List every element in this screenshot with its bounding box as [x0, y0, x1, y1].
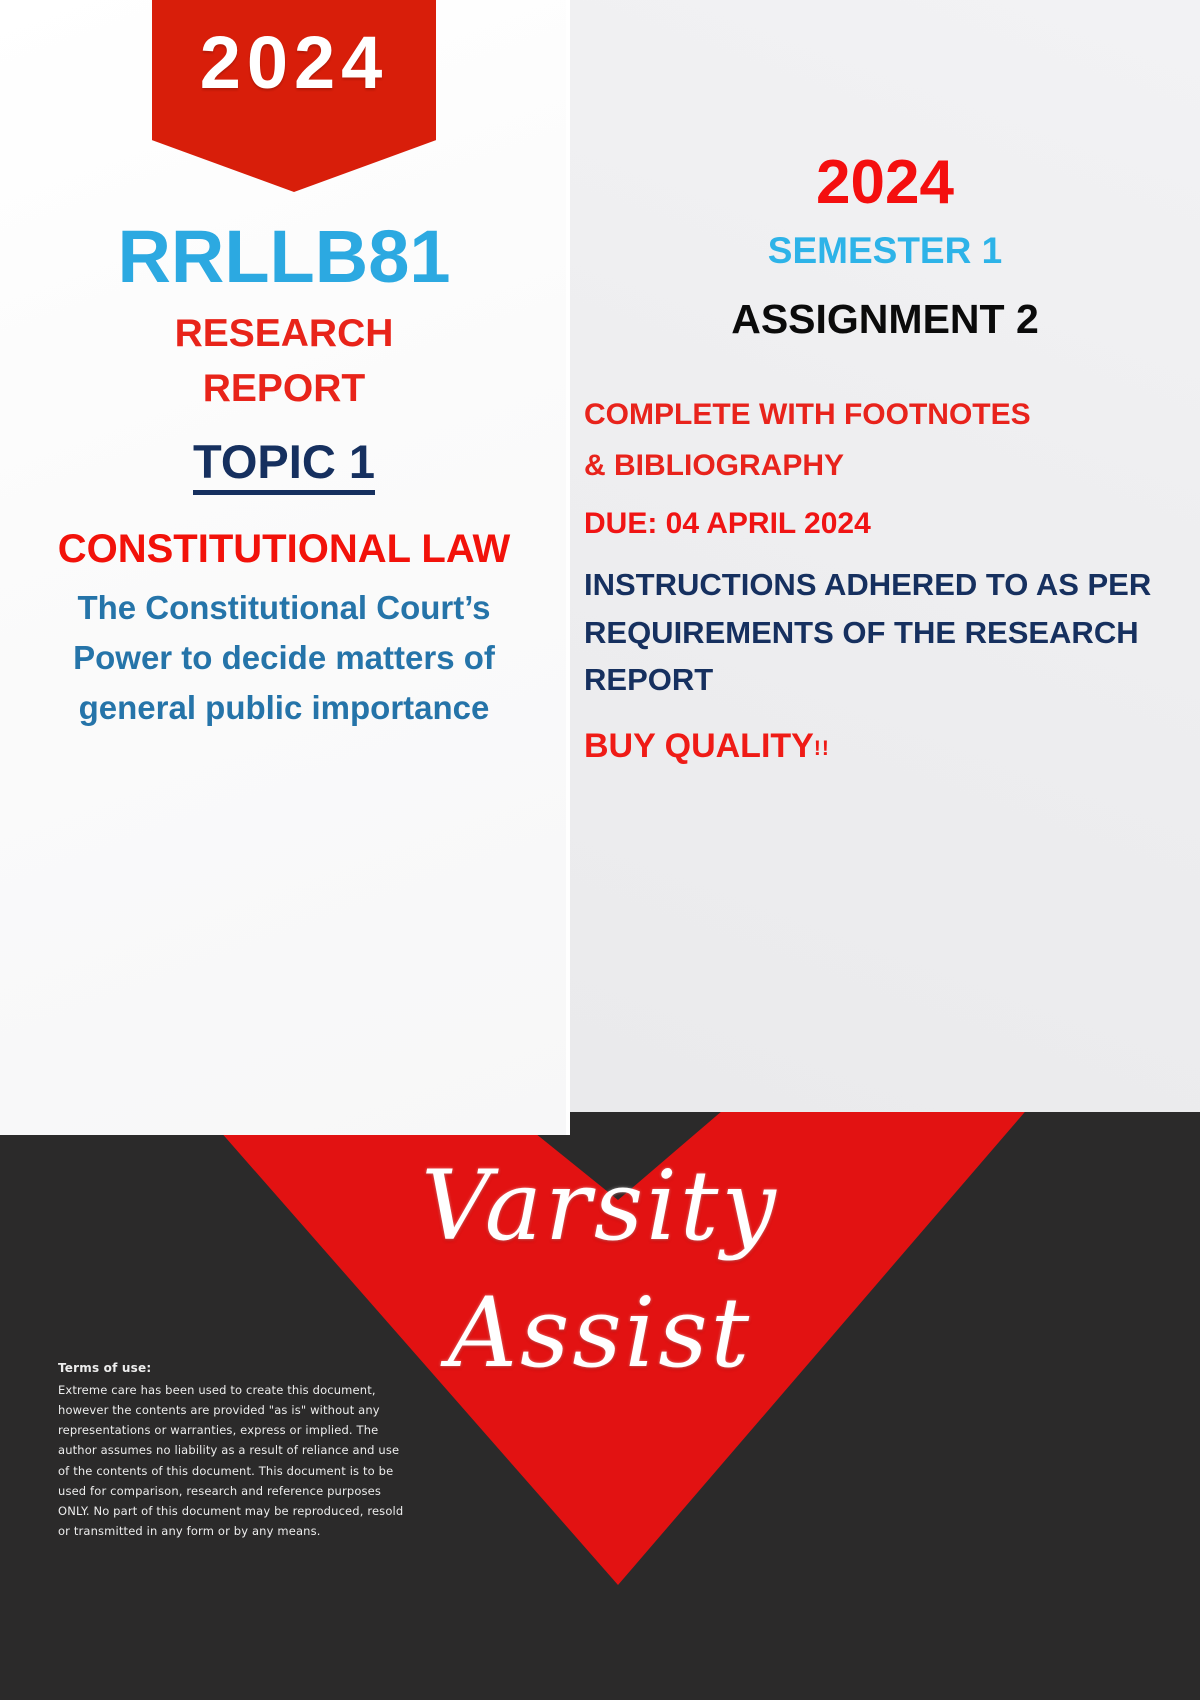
instructions-note: INSTRUCTIONS ADHERED TO AS PER REQUIREME…	[584, 561, 1186, 703]
terms-title: Terms of use:	[58, 1358, 408, 1379]
course-code: RRLLB81	[8, 218, 560, 296]
terms-of-use: Terms of use: Extreme care has been used…	[58, 1358, 408, 1541]
banner-year-label: 2024	[200, 26, 389, 100]
buy-quality-exclaim: !!	[814, 737, 830, 760]
buy-quality-text: BUY QUALITY	[584, 727, 814, 765]
right-column: 2024 SEMESTER 1 ASSIGNMENT 2 COMPLETE WI…	[568, 150, 1200, 767]
left-column: RRLLB81 RESEARCH REPORT TOPIC 1 CONSTITU…	[8, 218, 560, 734]
terms-body: Extreme care has been used to create thi…	[58, 1380, 408, 1541]
requirement-line-1: COMPLETE WITH FOOTNOTES	[584, 391, 1186, 440]
semester-label: SEMESTER 1	[584, 229, 1186, 273]
topic-heading: TOPIC 1	[193, 436, 375, 495]
buy-quality-note: BUY QUALITY!!	[584, 726, 1186, 767]
due-date: DUE: 04 APRIL 2024	[584, 504, 1186, 543]
report-type-line-2: REPORT	[8, 361, 560, 416]
topic-description: The Constitutional Court’s Power to deci…	[26, 583, 542, 733]
requirement-line-2: & BIBLIOGRAPHY	[584, 442, 1186, 491]
assignment-label: ASSIGNMENT 2	[584, 295, 1186, 344]
cover-page: 2024 RRLLB81 RESEARCH REPORT TOPIC 1 CON…	[0, 0, 1200, 1700]
subject-heading: CONSTITUTIONAL LAW	[8, 525, 560, 573]
right-year: 2024	[584, 150, 1186, 215]
report-type-line-1: RESEARCH	[8, 306, 560, 361]
